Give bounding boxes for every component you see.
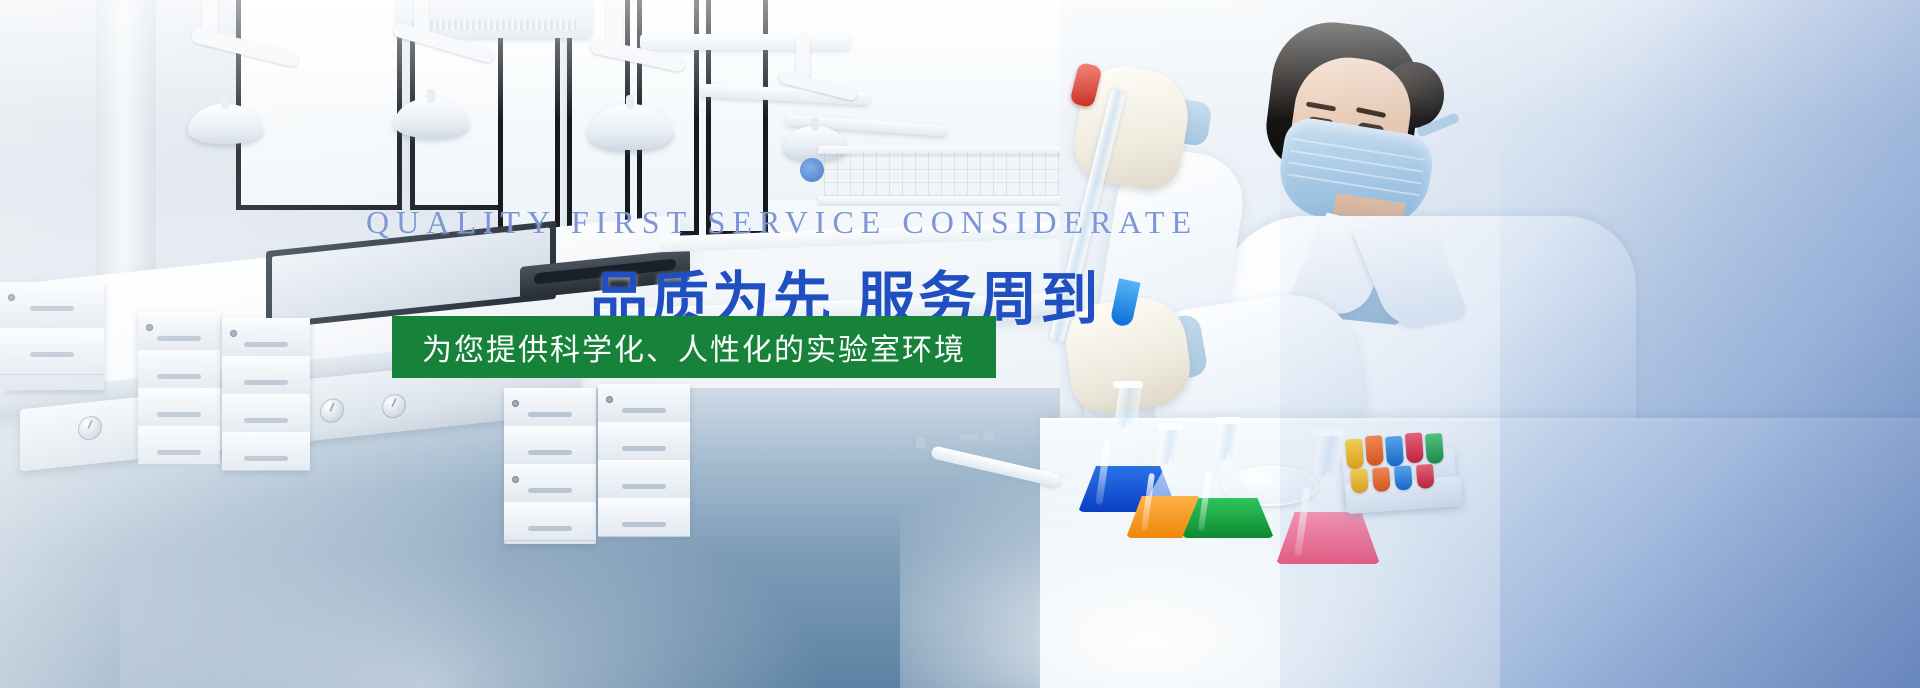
hero-banner: QUALITY FIRST SERVICE CONSIDERATE 品质为先 服… <box>0 0 1920 688</box>
banner-subtitle-box: 为您提供科学化、人性化的实验室环境 <box>392 316 996 378</box>
banner-subtitle-text: 为您提供科学化、人性化的实验室环境 <box>422 325 966 369</box>
banner-copy-block: QUALITY FIRST SERVICE CONSIDERATE 品质为先 服… <box>0 0 1920 688</box>
banner-eyebrow-english: QUALITY FIRST SERVICE CONSIDERATE <box>366 204 1198 241</box>
